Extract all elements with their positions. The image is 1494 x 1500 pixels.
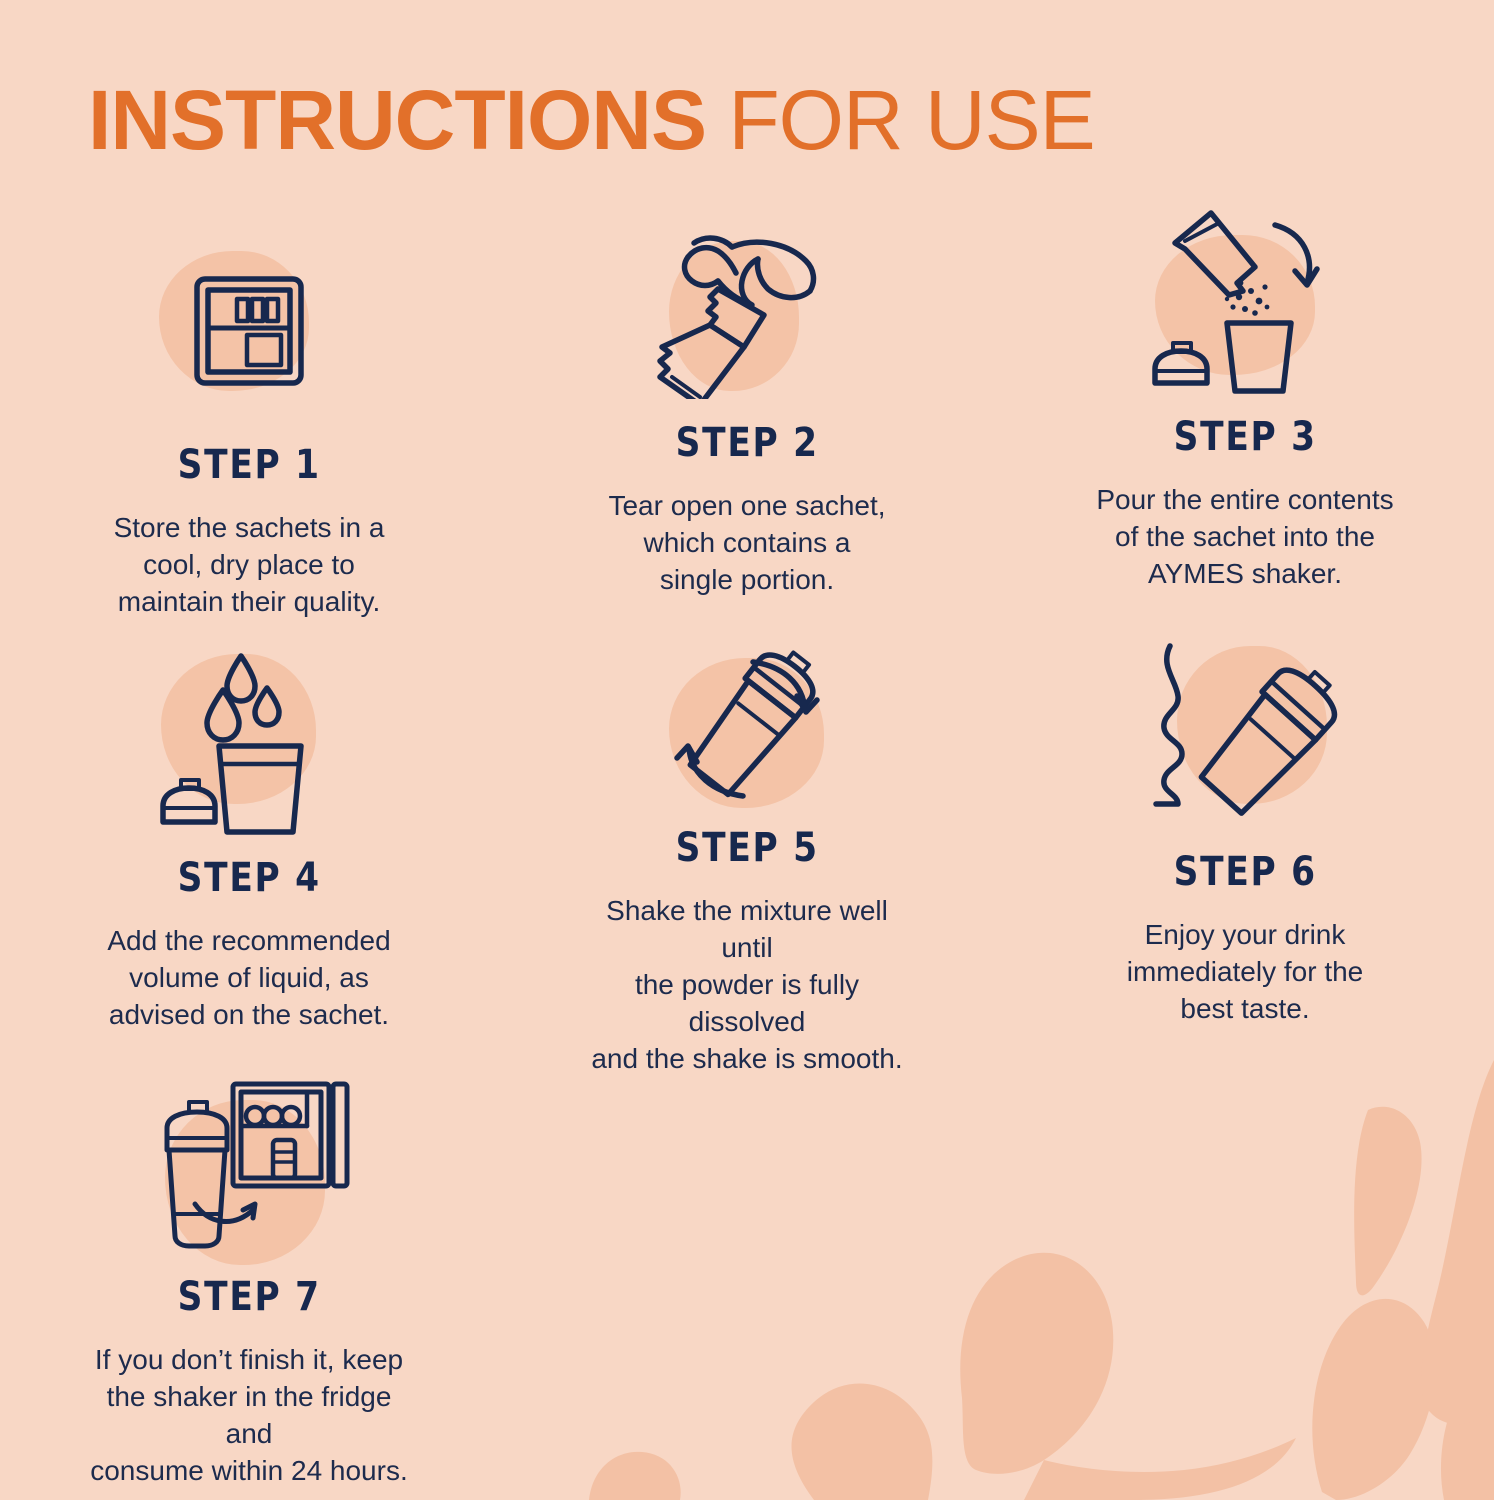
face-drinking-shaker-icon	[1148, 640, 1343, 835]
step-4-label: STEP 4	[177, 855, 320, 901]
pour-sachet-into-shaker-icon	[1145, 205, 1345, 400]
step-6-icon-area	[1115, 630, 1375, 845]
step-5-description: Shake the mixture well until the powder …	[582, 893, 912, 1078]
step-2-icon-area	[617, 201, 877, 416]
page-title-light: FOR USE	[706, 73, 1095, 167]
step-3-icon-area	[1115, 195, 1375, 410]
step-card-1: STEP 1 Store the sachets in a cool, dry …	[0, 205, 498, 630]
step-4-description: Add the recommended volume of liquid, as…	[84, 923, 414, 1034]
step-3-description: Pour the entire contents of the sachet i…	[1080, 482, 1410, 593]
step-card-4: STEP 4 Add the recommended volume of liq…	[0, 630, 498, 1060]
step-1-icon-area	[119, 223, 379, 438]
shaking-shaker-icon	[657, 636, 837, 821]
step-6-label: STEP 6	[1173, 849, 1316, 895]
steps-row-1: STEP 1 Store the sachets in a cool, dry …	[0, 205, 1494, 630]
step-4-icon-area	[119, 636, 379, 851]
step-1-label: STEP 1	[177, 442, 320, 488]
step-card-5: STEP 5 Shake the mixture well until the …	[498, 630, 996, 1060]
step-7-icon-area	[119, 1070, 379, 1270]
page-title-bold: INSTRUCTIONS	[88, 73, 706, 167]
step-card-3: STEP 3 Pour the entire contents of the s…	[996, 205, 1494, 630]
steps-row-3: STEP 7 If you don’t finish it, keep the …	[0, 1060, 1494, 1490]
step-5-icon-area	[617, 636, 877, 821]
step-card-empty-1	[498, 1060, 996, 1490]
steps-grid: STEP 1 Store the sachets in a cool, dry …	[0, 205, 1494, 1490]
step-card-2: STEP 2 Tear open one sachet, which conta…	[498, 205, 996, 630]
step-7-description: If you don’t finish it, keep the shaker …	[84, 1342, 414, 1490]
step-3-label: STEP 3	[1173, 414, 1316, 460]
cupboard-sachets-icon	[189, 271, 309, 391]
step-6-description: Enjoy your drink immediately for the bes…	[1080, 917, 1410, 1028]
step-2-description: Tear open one sachet, which contains a s…	[582, 488, 912, 599]
steps-row-2: STEP 4 Add the recommended volume of liq…	[0, 630, 1494, 1060]
shaker-into-fridge-icon	[147, 1078, 352, 1263]
step-2-label: STEP 2	[675, 420, 818, 466]
hand-tearing-sachet-icon	[652, 219, 842, 399]
step-card-7: STEP 7 If you don’t finish it, keep the …	[0, 1060, 498, 1490]
step-5-label: STEP 5	[675, 825, 818, 871]
step-card-6: STEP 6 Enjoy your drink immediately for …	[996, 630, 1494, 1060]
page-title: INSTRUCTIONS FOR USE	[88, 78, 1095, 162]
step-1-description: Store the sachets in a cool, dry place t…	[84, 510, 414, 621]
step-7-label: STEP 7	[177, 1274, 320, 1320]
water-droplets-into-shaker-icon	[157, 646, 342, 841]
step-card-empty-2	[996, 1060, 1494, 1490]
